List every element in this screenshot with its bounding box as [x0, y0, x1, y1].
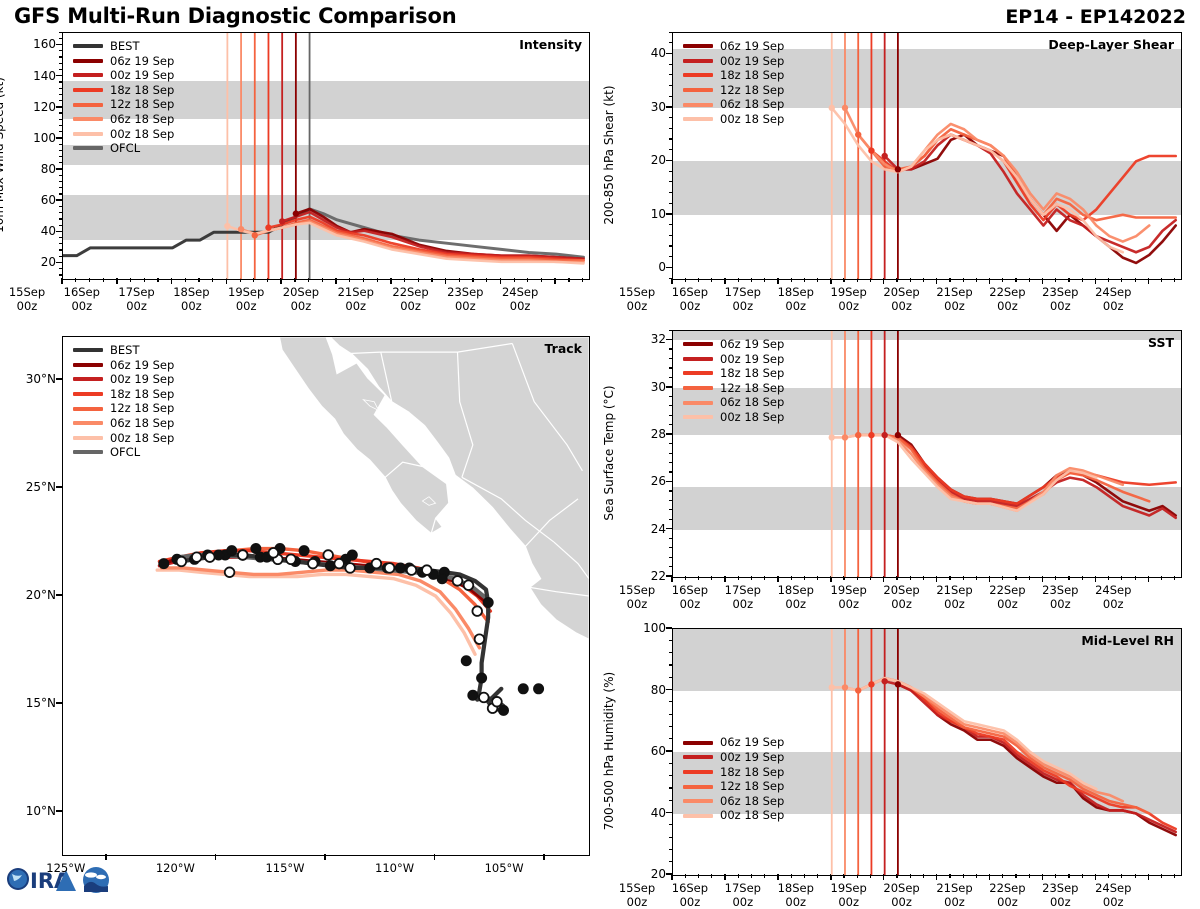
y-axis-label: Sea Surface Temp (°C)	[602, 385, 616, 520]
legend-item[interactable]: 18z 18 Sep	[683, 366, 784, 381]
legend-label: 18z 18 Sep	[720, 765, 784, 780]
legend-item[interactable]: 18z 18 Sep	[683, 68, 784, 83]
y-axis-tick-label: 80	[628, 683, 666, 697]
x-axis-tick-label: 24Sep00z	[485, 286, 555, 313]
legend-label: 06z 18 Sep	[720, 395, 784, 410]
y-axis-minor-tick	[669, 664, 673, 665]
legend-label: 12z 18 Sep	[110, 97, 174, 112]
y-axis-minor-tick	[59, 256, 63, 257]
legend-label: 00z 19 Sep	[110, 372, 174, 387]
y-axis-tick-label: 40	[628, 46, 666, 60]
panel-title: Deep-Layer Shear	[1048, 37, 1174, 52]
legend-label: 00z 19 Sep	[720, 54, 784, 69]
legend-label: 06z 18 Sep	[110, 416, 174, 431]
legend-swatch	[683, 73, 713, 77]
y-axis-minor-tick	[669, 453, 673, 454]
track-day-marker-filled	[159, 559, 169, 569]
legend-label: 18z 18 Sep	[720, 68, 784, 83]
legend-label: 00z 18 Sep	[110, 431, 174, 446]
legend-label: 18z 18 Sep	[110, 83, 174, 98]
y-axis-tick-label: 140	[18, 69, 56, 83]
legend-label: BEST	[110, 343, 139, 358]
track-day-marker-open	[479, 693, 489, 703]
map-y-axis-tick-label: 15°N	[10, 696, 56, 710]
legend-item[interactable]: 18z 18 Sep	[73, 83, 174, 98]
map-x-axis-tick-label: 125°W	[26, 862, 106, 876]
y-axis-minor-tick	[59, 112, 63, 113]
legend-item[interactable]: 00z 19 Sep	[73, 372, 174, 387]
series-init-marker	[881, 432, 887, 438]
y-axis-tick-label: 60	[628, 744, 666, 758]
chart-legend: 06z 19 Sep00z 19 Sep18z 18 Sep12z 18 Sep…	[683, 735, 784, 823]
y-axis-tick-label: 24	[628, 522, 666, 536]
y-axis-minor-tick	[59, 206, 63, 207]
y-axis-minor-tick	[59, 274, 63, 275]
legend-label: 00z 19 Sep	[720, 352, 784, 367]
track-day-marker-open	[345, 563, 355, 573]
legend-label: 06z 19 Sep	[720, 735, 784, 750]
map-y-axis-tick-mark	[56, 702, 62, 704]
y-axis-minor-tick	[59, 249, 63, 250]
legend-item[interactable]: BEST	[73, 343, 174, 358]
y-axis-minor-tick	[669, 628, 673, 629]
legend-label: 00z 19 Sep	[720, 750, 784, 765]
y-axis-minor-tick	[669, 405, 673, 406]
legend-label: 12z 18 Sep	[720, 779, 784, 794]
legend-swatch	[73, 44, 103, 48]
legend-swatch	[73, 103, 103, 107]
legend-item[interactable]: 00z 19 Sep	[683, 750, 784, 765]
y-axis-minor-tick	[59, 212, 63, 213]
legend-label: 12z 18 Sep	[110, 401, 174, 416]
legend-item[interactable]: 12z 18 Sep	[73, 401, 174, 416]
track-line	[157, 570, 475, 654]
y-axis-minor-tick	[669, 528, 673, 529]
legend-item[interactable]: 06z 18 Sep	[683, 97, 784, 112]
y-axis-minor-tick	[669, 519, 673, 520]
panel-title: SST	[1148, 335, 1174, 350]
legend-swatch	[683, 103, 713, 107]
y-axis-minor-tick	[59, 150, 63, 151]
y-axis-minor-tick	[59, 81, 63, 82]
y-axis-minor-tick	[59, 231, 63, 232]
legend-swatch	[73, 59, 103, 63]
y-axis-tick-label: 10	[628, 207, 666, 221]
series-init-marker	[855, 432, 861, 438]
y-axis-minor-tick	[59, 162, 63, 163]
legend-label: 18z 18 Sep	[720, 366, 784, 381]
track-day-marker-open	[323, 550, 333, 560]
y-axis-tick-label: 20	[628, 153, 666, 167]
track-day-marker-open	[192, 552, 202, 562]
legend-label: 12z 18 Sep	[720, 83, 784, 98]
panel-sst: SST06z 19 Sep00z 19 Sep18z 18 Sep12z 18 …	[672, 330, 1182, 578]
legend-item[interactable]: 06z 19 Sep	[683, 39, 784, 54]
legend-item[interactable]: 06z 18 Sep	[683, 794, 784, 809]
y-axis-minor-tick	[669, 849, 673, 850]
panel-title: Track	[545, 341, 582, 356]
y-axis-minor-tick	[669, 689, 673, 690]
y-axis-tick-label: 40	[18, 224, 56, 238]
series-init-marker	[252, 232, 258, 238]
panel-track: TrackBEST06z 19 Sep00z 19 Sep18z 18 Sep1…	[62, 336, 590, 856]
chart-legend: 06z 19 Sep00z 19 Sep18z 18 Sep12z 18 Sep…	[683, 337, 784, 425]
legend-label: OFCL	[110, 141, 140, 156]
map-y-axis-tick-label: 30°N	[10, 372, 56, 386]
y-axis-minor-tick	[669, 490, 673, 491]
y-axis-minor-tick	[669, 64, 673, 65]
y-axis-minor-tick	[669, 213, 673, 214]
legend-label: 00z 18 Sep	[720, 808, 784, 823]
y-axis-minor-tick	[669, 106, 673, 107]
y-axis-tick-label: 30	[628, 380, 666, 394]
series-init-marker	[842, 105, 848, 111]
y-axis-tick-label: 20	[628, 867, 666, 881]
track-line	[162, 568, 480, 648]
y-axis-minor-tick	[669, 738, 673, 739]
track-day-marker-open	[475, 634, 485, 644]
series-line	[871, 135, 1175, 221]
x-axis-tick-label: 24Sep00z	[1078, 584, 1148, 611]
y-axis-minor-tick	[669, 339, 673, 340]
y-axis-minor-tick	[59, 88, 63, 89]
legend-label: 06z 18 Sep	[720, 97, 784, 112]
y-axis-minor-tick	[59, 169, 63, 170]
track-day-marker-filled	[227, 546, 237, 556]
series-line	[898, 135, 1176, 263]
legend-item[interactable]: 00z 18 Sep	[73, 127, 174, 142]
legend-swatch	[683, 88, 713, 92]
series-init-marker	[895, 166, 901, 172]
panel-rh: Mid-Level RH06z 19 Sep00z 19 Sep18z 18 S…	[672, 628, 1182, 876]
legend-swatch	[683, 785, 713, 789]
legend-item[interactable]: 12z 18 Sep	[683, 83, 784, 98]
track-day-marker-filled	[534, 684, 544, 694]
legend-swatch	[73, 132, 103, 136]
y-axis-tick-label: 100	[18, 131, 56, 145]
track-day-marker-open	[177, 557, 187, 567]
legend-item[interactable]: 00z 18 Sep	[73, 431, 174, 446]
y-axis-minor-tick	[59, 75, 63, 76]
y-axis-minor-tick	[59, 193, 63, 194]
legend-swatch	[73, 363, 103, 367]
legend-item[interactable]: 06z 19 Sep	[73, 358, 174, 373]
y-axis-minor-tick	[669, 74, 673, 75]
legend-item[interactable]: 00z 18 Sep	[683, 808, 784, 823]
series-line	[63, 209, 310, 256]
y-axis-minor-tick	[669, 547, 673, 548]
map-x-axis-tick-label: 120°W	[135, 862, 215, 876]
y-axis-minor-tick	[669, 96, 673, 97]
track-day-marker-open	[308, 559, 318, 569]
y-axis-minor-tick	[59, 262, 63, 263]
series-init-marker	[855, 131, 861, 137]
legend-swatch	[683, 357, 713, 361]
y-axis-minor-tick	[669, 812, 673, 813]
y-axis-minor-tick	[669, 566, 673, 567]
track-day-marker-open	[453, 576, 463, 586]
series-init-marker	[829, 684, 835, 690]
y-axis-minor-tick	[669, 330, 673, 331]
y-axis-minor-tick	[59, 69, 63, 70]
track-day-marker-filled	[499, 705, 509, 715]
series-init-marker	[829, 105, 835, 111]
y-axis-minor-tick	[669, 557, 673, 558]
y-axis-minor-tick	[669, 640, 673, 641]
series-init-marker	[279, 218, 285, 224]
track-day-marker-open	[407, 565, 417, 575]
series-init-marker	[868, 147, 874, 153]
track-day-marker-open	[372, 559, 382, 569]
y-axis-minor-tick	[59, 50, 63, 51]
y-axis-tick-label: 20	[18, 255, 56, 269]
legend-label: 00z 18 Sep	[720, 410, 784, 425]
y-axis-tick-label: 32	[628, 332, 666, 346]
y-axis-minor-tick	[669, 386, 673, 387]
y-axis-minor-tick	[59, 125, 63, 126]
y-axis-tick-label: 100	[628, 621, 666, 635]
legend-item[interactable]: 00z 18 Sep	[683, 410, 784, 425]
legend-item[interactable]: 06z 19 Sep	[73, 54, 174, 69]
y-axis-minor-tick	[669, 358, 673, 359]
legend-swatch	[683, 755, 713, 759]
y-axis-minor-tick	[59, 237, 63, 238]
legend-item[interactable]: 06z 18 Sep	[73, 112, 174, 127]
y-axis-tick-label: 80	[18, 162, 56, 176]
legend-item[interactable]: 18z 18 Sep	[683, 765, 784, 780]
legend-item[interactable]: 06z 19 Sep	[683, 735, 784, 750]
series-line	[845, 108, 1149, 242]
y-axis-minor-tick	[59, 106, 63, 107]
legend-swatch	[73, 421, 103, 425]
legend-item[interactable]: BEST	[73, 39, 174, 54]
y-axis-minor-tick	[669, 367, 673, 368]
y-axis-minor-tick	[669, 701, 673, 702]
y-axis-minor-tick	[59, 119, 63, 120]
y-axis-minor-tick	[59, 243, 63, 244]
legend-swatch	[73, 407, 103, 411]
y-axis-minor-tick	[59, 94, 63, 95]
y-axis-minor-tick	[669, 824, 673, 825]
series-init-marker	[842, 434, 848, 440]
y-axis-tick-label: 26	[628, 474, 666, 488]
legend-label: 06z 19 Sep	[110, 358, 174, 373]
y-axis-minor-tick	[59, 131, 63, 132]
y-axis-minor-tick	[669, 462, 673, 463]
series-init-marker	[895, 432, 901, 438]
map-x-axis-tick-label: 115°W	[245, 862, 325, 876]
y-axis-minor-tick	[59, 56, 63, 57]
series-init-marker	[224, 223, 230, 229]
y-axis-minor-tick	[669, 481, 673, 482]
series-init-marker	[265, 224, 271, 230]
legend-swatch	[73, 117, 103, 121]
track-day-marker-filled	[518, 684, 528, 694]
legend-swatch	[683, 415, 713, 419]
legend-item[interactable]: 12z 18 Sep	[683, 779, 784, 794]
legend-item[interactable]: OFCL	[73, 445, 174, 460]
y-axis-tick-label: 160	[18, 37, 56, 51]
y-axis-minor-tick	[669, 32, 673, 33]
legend-swatch	[73, 348, 103, 352]
y-axis-minor-tick	[669, 53, 673, 54]
chart-legend: BEST06z 19 Sep00z 19 Sep18z 18 Sep12z 18…	[73, 39, 174, 156]
y-axis-minor-tick	[669, 267, 673, 268]
series-line	[858, 129, 1176, 220]
chart-legend: BEST06z 19 Sep00z 19 Sep18z 18 Sep12z 18…	[73, 343, 174, 460]
legend-label: 12z 18 Sep	[720, 381, 784, 396]
legend-swatch	[73, 146, 103, 150]
legend-item[interactable]: 00z 19 Sep	[683, 352, 784, 367]
y-axis-minor-tick	[669, 181, 673, 182]
y-axis-minor-tick	[59, 175, 63, 176]
y-axis-minor-tick	[669, 396, 673, 397]
track-day-marker-filled	[468, 690, 478, 700]
y-axis-tick-label: 60	[18, 193, 56, 207]
legend-swatch	[683, 117, 713, 121]
y-axis-minor-tick	[59, 100, 63, 101]
y-axis-minor-tick	[669, 42, 673, 43]
series-init-marker	[868, 432, 874, 438]
y-axis-minor-tick	[669, 171, 673, 172]
legend-item[interactable]: 06z 18 Sep	[73, 416, 174, 431]
legend-swatch	[683, 342, 713, 346]
series-init-marker	[881, 678, 887, 684]
track-day-marker-open	[472, 606, 482, 616]
track-day-marker-filled	[477, 673, 487, 683]
track-day-marker-open	[205, 552, 215, 562]
legend-item[interactable]: 12z 18 Sep	[73, 97, 174, 112]
legend-swatch	[683, 386, 713, 390]
y-axis-tick-label: 22	[628, 569, 666, 583]
panel-title: Intensity	[519, 37, 582, 52]
x-axis-tick-label: 24Sep00z	[1078, 286, 1148, 313]
y-axis-minor-tick	[59, 38, 63, 39]
y-axis-minor-tick	[669, 434, 673, 435]
y-axis-minor-tick	[669, 424, 673, 425]
y-axis-minor-tick	[669, 861, 673, 862]
y-axis-minor-tick	[669, 235, 673, 236]
series-line	[832, 108, 1123, 252]
track-day-marker-filled	[396, 563, 406, 573]
legend-label: 00z 18 Sep	[110, 127, 174, 142]
y-axis-minor-tick	[59, 137, 63, 138]
legend-item[interactable]: 18z 18 Sep	[73, 387, 174, 402]
series-init-marker	[829, 434, 835, 440]
legend-label: 00z 18 Sep	[720, 112, 784, 127]
track-day-marker-open	[422, 565, 432, 575]
track-day-marker-filled	[251, 544, 261, 554]
legend-swatch	[683, 770, 713, 774]
legend-item[interactable]: 00z 18 Sep	[683, 112, 784, 127]
y-axis-label: 700-500 hPa Humidity (%)	[602, 672, 616, 830]
legend-swatch	[73, 450, 103, 454]
y-axis-minor-tick	[669, 117, 673, 118]
legend-swatch	[683, 741, 713, 745]
legend-item[interactable]: 06z 18 Sep	[683, 395, 784, 410]
legend-item[interactable]: 00z 19 Sep	[683, 54, 784, 69]
track-day-marker-open	[225, 567, 235, 577]
panel-title: Mid-Level RH	[1081, 633, 1174, 648]
legend-label: 00z 19 Sep	[110, 68, 174, 83]
series-init-marker	[868, 681, 874, 687]
track-day-marker-open	[334, 559, 344, 569]
track-day-marker-filled	[483, 597, 493, 607]
y-axis-minor-tick	[669, 471, 673, 472]
legend-label: 18z 18 Sep	[110, 387, 174, 402]
legend-swatch	[683, 44, 713, 48]
y-axis-minor-tick	[669, 509, 673, 510]
y-axis-minor-tick	[669, 138, 673, 139]
panel-shear: Deep-Layer Shear06z 19 Sep00z 19 Sep18z …	[672, 32, 1182, 280]
series-init-marker	[895, 681, 901, 687]
y-axis-minor-tick	[669, 443, 673, 444]
legend-label: 06z 18 Sep	[720, 794, 784, 809]
track-day-marker-open	[238, 550, 248, 560]
track-day-marker-open	[269, 548, 279, 558]
y-axis-minor-tick	[669, 837, 673, 838]
legend-item[interactable]: 12z 18 Sep	[683, 381, 784, 396]
track-day-marker-open	[464, 580, 474, 590]
y-axis-minor-tick	[59, 225, 63, 226]
legend-swatch	[73, 377, 103, 381]
y-axis-minor-tick	[59, 187, 63, 188]
legend-item[interactable]: 06z 19 Sep	[683, 337, 784, 352]
y-axis-minor-tick	[669, 245, 673, 246]
y-axis-tick-label: 40	[628, 806, 666, 820]
legend-swatch	[73, 436, 103, 440]
track-day-marker-open	[492, 697, 502, 707]
y-axis-minor-tick	[669, 256, 673, 257]
y-axis-minor-tick	[59, 63, 63, 64]
chart-legend: 06z 19 Sep00z 19 Sep18z 18 Sep12z 18 Sep…	[683, 39, 784, 127]
map-y-axis-tick-mark	[56, 810, 62, 812]
y-axis-minor-tick	[59, 44, 63, 45]
legend-swatch	[73, 88, 103, 92]
y-axis-minor-tick	[669, 203, 673, 204]
series-init-marker	[842, 684, 848, 690]
y-axis-minor-tick	[669, 128, 673, 129]
y-axis-minor-tick	[669, 160, 673, 161]
legend-label: 06z 19 Sep	[110, 54, 174, 69]
legend-item[interactable]: 00z 19 Sep	[73, 68, 174, 83]
legend-label: 06z 18 Sep	[110, 112, 174, 127]
y-axis-minor-tick	[669, 500, 673, 501]
legend-swatch	[683, 371, 713, 375]
map-y-axis-tick-mark	[56, 594, 62, 596]
y-axis-minor-tick	[669, 652, 673, 653]
y-axis-minor-tick	[669, 224, 673, 225]
y-axis-tick-label: 120	[18, 100, 56, 114]
storm-id-label: EP14 - EP142022	[1005, 6, 1186, 28]
y-axis-minor-tick	[59, 144, 63, 145]
legend-item[interactable]: OFCL	[73, 141, 174, 156]
y-axis-minor-tick	[669, 348, 673, 349]
map-x-axis-tick-label: 105°W	[464, 862, 544, 876]
series-init-marker	[855, 687, 861, 693]
series-init-marker	[293, 210, 299, 216]
legend-swatch	[683, 799, 713, 803]
y-axis-minor-tick	[59, 200, 63, 201]
legend-swatch	[683, 59, 713, 63]
y-axis-minor-tick	[669, 726, 673, 727]
map-y-axis-tick-mark	[56, 486, 62, 488]
y-axis-minor-tick	[669, 714, 673, 715]
y-axis-tick-label: 28	[628, 427, 666, 441]
y-axis-minor-tick	[669, 775, 673, 776]
y-axis-minor-tick	[669, 787, 673, 788]
y-axis-minor-tick	[59, 181, 63, 182]
